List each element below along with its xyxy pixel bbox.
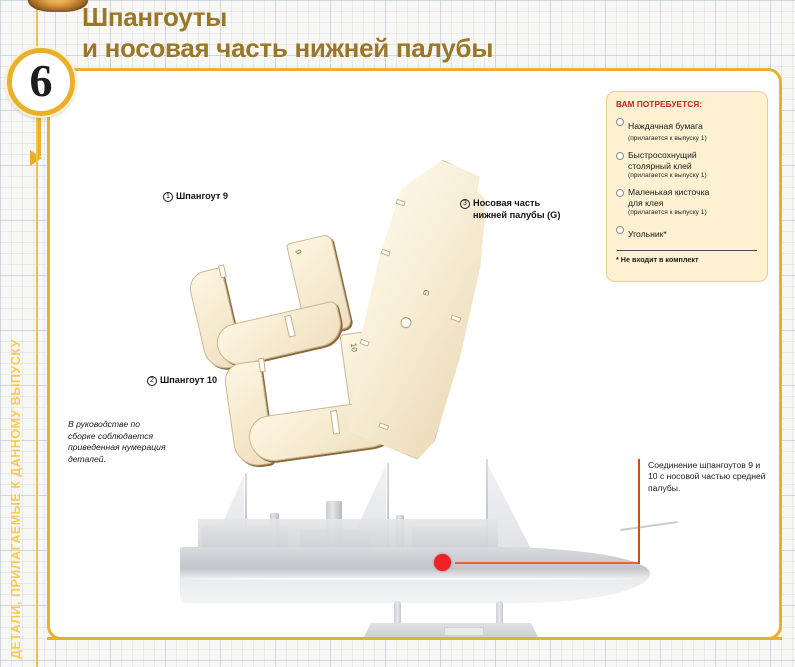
part-label-text: Шпангоут 9 <box>176 191 228 201</box>
requirements-item-note: (прилагается к выпуску 1) <box>628 172 758 180</box>
part-number-badge: 2 <box>147 376 157 386</box>
requirements-item-label: Наждачная бумага <box>628 121 703 131</box>
connection-callout-text: Соединение шпангоутов 9 и 10 с носовой ч… <box>648 460 770 494</box>
part-number-badge: 3 <box>460 199 470 209</box>
ship-stand-plaque <box>444 627 484 636</box>
requirements-panel: ВАМ ПОТРЕБУЕТСЯ: Наждачная бумага (прила… <box>606 91 768 282</box>
requirements-footnote: * Не входит в комплект <box>616 255 758 264</box>
page-header: Шпангоуты и носовая часть нижней палубы <box>82 2 795 68</box>
card-bottom-rule <box>47 637 782 640</box>
requirements-item-note: (прилагается к выпуску 1) <box>628 135 758 143</box>
requirements-item[interactable]: Быстросохнущий столярный клей (прилагает… <box>616 150 758 180</box>
issue-number-text: 6 <box>30 58 53 104</box>
requirements-item-note: (прилагается к выпуску 1) <box>628 209 758 217</box>
checkbox-circle-icon[interactable] <box>616 152 624 160</box>
requirements-item[interactable]: Наждачная бумага (прилагается к выпуску … <box>616 116 758 143</box>
part-label-frame-9: 1Шпангоут 9 <box>163 190 228 202</box>
checkbox-circle-icon[interactable] <box>616 118 624 126</box>
part-label-text: Шпангоут 10 <box>160 375 217 385</box>
connection-point-marker <box>434 554 451 571</box>
ship-bowsprit <box>620 521 678 531</box>
callout-leader-horizontal <box>455 562 640 564</box>
ship-superstructure <box>198 519 498 549</box>
page-title-line-2: и носовая часть нижней палубы <box>82 33 795 64</box>
content-card: ВАМ ПОТРЕБУЕТСЯ: Наждачная бумага (прила… <box>47 68 782 640</box>
requirements-item-label: Быстросохнущий столярный клей <box>628 150 758 171</box>
requirements-title: ВАМ ПОТРЕБУЕТСЯ: <box>616 100 758 109</box>
ship-waterline <box>184 578 634 580</box>
requirements-item[interactable]: Маленькая кисточка для клея (прилагается… <box>616 187 758 217</box>
requirements-item-label: Угольник* <box>628 229 667 239</box>
checkbox-circle-icon[interactable] <box>616 189 624 197</box>
ship-model-photo <box>150 441 670 640</box>
issue-number-badge: 6 <box>7 48 75 116</box>
sidebar-vertical-label: ДЕТАЛИ, ПРИЛАГАЕМЫЕ К ДАННОМУ ВЫПУСКУ <box>9 59 29 659</box>
part-label-text-line-2: нижней палубы (G) <box>460 209 560 221</box>
part-label-lower-deck: 3Носовая часть нижней палубы (G) <box>460 197 560 221</box>
checkbox-circle-icon[interactable] <box>616 226 624 234</box>
ship-hull <box>180 547 650 603</box>
part-number-badge: 1 <box>163 192 173 202</box>
part-label-text-line-1: Носовая часть <box>473 198 540 208</box>
requirements-item-label: Маленькая кисточка для клея <box>628 187 758 208</box>
requirements-item[interactable]: Угольник* <box>616 224 758 242</box>
page-title-line-1: Шпангоуты <box>82 2 795 33</box>
part-label-frame-10: 2Шпангоут 10 <box>147 374 217 386</box>
requirements-divider <box>617 250 757 251</box>
callout-leader-vertical <box>638 459 640 564</box>
